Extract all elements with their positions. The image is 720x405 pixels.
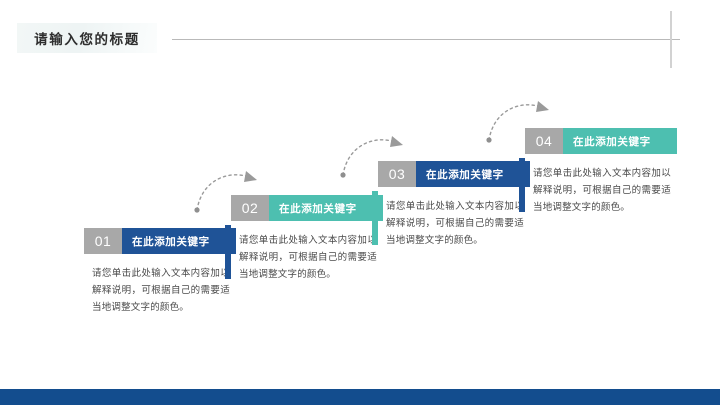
step-accent-04	[519, 158, 525, 212]
step-body-text-02: 请您单击此处输入文本内容加以解释说明，可根据自己的需要适当地调整文字的颜色。	[239, 233, 377, 284]
step-card-04[interactable]: 04 在此添加关键字 请您单击此处输入文本内容加以解释说明，可根据自己的需要适当…	[525, 128, 677, 217]
step-keyword-03: 在此添加关键字	[416, 161, 530, 187]
step-card-02-body: 请您单击此处输入文本内容加以解释说明，可根据自己的需要适当地调整文字的颜色。	[231, 221, 383, 284]
step-card-04-body: 请您单击此处输入文本内容加以解释说明，可根据自己的需要适当地调整文字的颜色。	[525, 154, 677, 217]
step-card-03-header: 03 在此添加关键字	[378, 161, 530, 187]
corner-cross-vertical-icon	[670, 11, 672, 68]
step-keyword-04: 在此添加关键字	[563, 128, 677, 154]
step-card-01-header: 01 在此添加关键字	[84, 228, 236, 254]
step-number-01: 01	[84, 228, 122, 254]
step-card-02[interactable]: 02 在此添加关键字 请您单击此处输入文本内容加以解释说明，可根据自己的需要适当…	[231, 195, 383, 284]
page-title: 请输入您的标题	[34, 28, 140, 48]
slide-canvas: 请输入您的标题 01 在此添加关键字 请您单击此处输入文本内容加以解释说明，可根…	[0, 0, 720, 405]
step-card-02-header: 02 在此添加关键字	[231, 195, 383, 221]
step-card-04-header: 04 在此添加关键字	[525, 128, 677, 154]
step-body-text-03: 请您单击此处输入文本内容加以解释说明，可根据自己的需要适当地调整文字的颜色。	[386, 199, 524, 250]
page-title-box: 请输入您的标题	[17, 23, 157, 53]
step-card-01-body: 请您单击此处输入文本内容加以解释说明，可根据自己的需要适当地调整文字的颜色。	[84, 254, 236, 317]
title-divider-line	[172, 39, 680, 40]
step-keyword-01: 在此添加关键字	[122, 228, 236, 254]
step-body-text-04: 请您单击此处输入文本内容加以解释说明，可根据自己的需要适当地调整文字的颜色。	[533, 166, 671, 217]
step-keyword-02: 在此添加关键字	[269, 195, 383, 221]
step-number-02: 02	[231, 195, 269, 221]
step-number-03: 03	[378, 161, 416, 187]
step-body-text-01: 请您单击此处输入文本内容加以解释说明，可根据自己的需要适当地调整文字的颜色。	[92, 266, 230, 317]
step-number-04: 04	[525, 128, 563, 154]
step-accent-02	[225, 225, 231, 279]
step-card-01[interactable]: 01 在此添加关键字 请您单击此处输入文本内容加以解释说明，可根据自己的需要适当…	[84, 228, 236, 317]
step-card-03-body: 请您单击此处输入文本内容加以解释说明，可根据自己的需要适当地调整文字的颜色。	[378, 187, 530, 250]
step-card-03[interactable]: 03 在此添加关键字 请您单击此处输入文本内容加以解释说明，可根据自己的需要适当…	[378, 161, 530, 250]
step-accent-03	[372, 191, 378, 245]
footer-bar	[0, 389, 720, 405]
